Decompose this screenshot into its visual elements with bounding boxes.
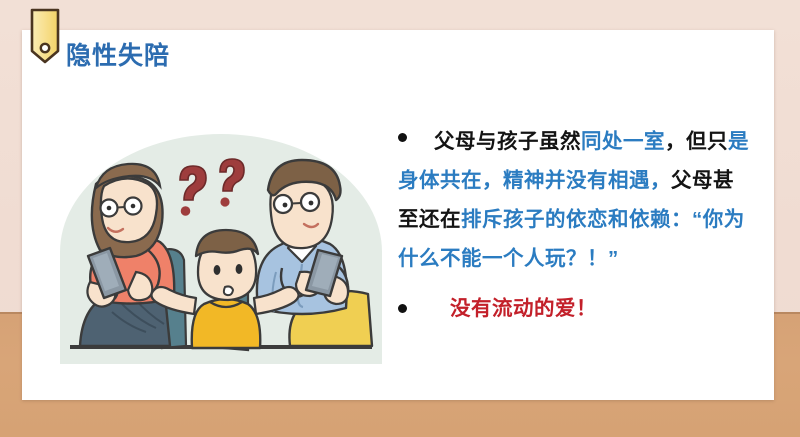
bullet-dot-icon	[398, 304, 407, 313]
bullet-1-line1-blue: 同处一室	[581, 130, 665, 153]
bullet-1-line1-black-b: ，但只	[665, 130, 728, 153]
bullet-1-paragraph: 父母与孩子虽然同处一室，但只是身体共在，精神并没有相遇，父母甚至还在排斥孩子的依…	[398, 122, 750, 278]
bullet-list: 父母与孩子虽然同处一室，但只是身体共在，精神并没有相遇，父母甚至还在排斥孩子的依…	[398, 122, 750, 326]
slide-canvas: 隐性失陪	[0, 0, 800, 437]
page-title: 隐性失陪	[66, 36, 170, 72]
bullet-dot-icon	[398, 133, 407, 142]
bullet-1-line1-black-a: 父母与孩子虽然	[434, 130, 581, 153]
list-item: 没有流动的爱！	[398, 292, 750, 326]
bullet-2-text: 没有流动的爱！	[398, 292, 750, 326]
list-item: 父母与孩子虽然同处一室，但只是身体共在，精神并没有相遇，父母甚至还在排斥孩子的依…	[398, 122, 750, 278]
bookmark-tag-icon	[30, 8, 60, 64]
family-on-phones-illustration	[52, 132, 390, 378]
bullet-1-line3-blue: 排斥孩子的依恋和依赖：	[461, 208, 692, 231]
bullet-1-line2-black: 父母	[671, 169, 713, 192]
